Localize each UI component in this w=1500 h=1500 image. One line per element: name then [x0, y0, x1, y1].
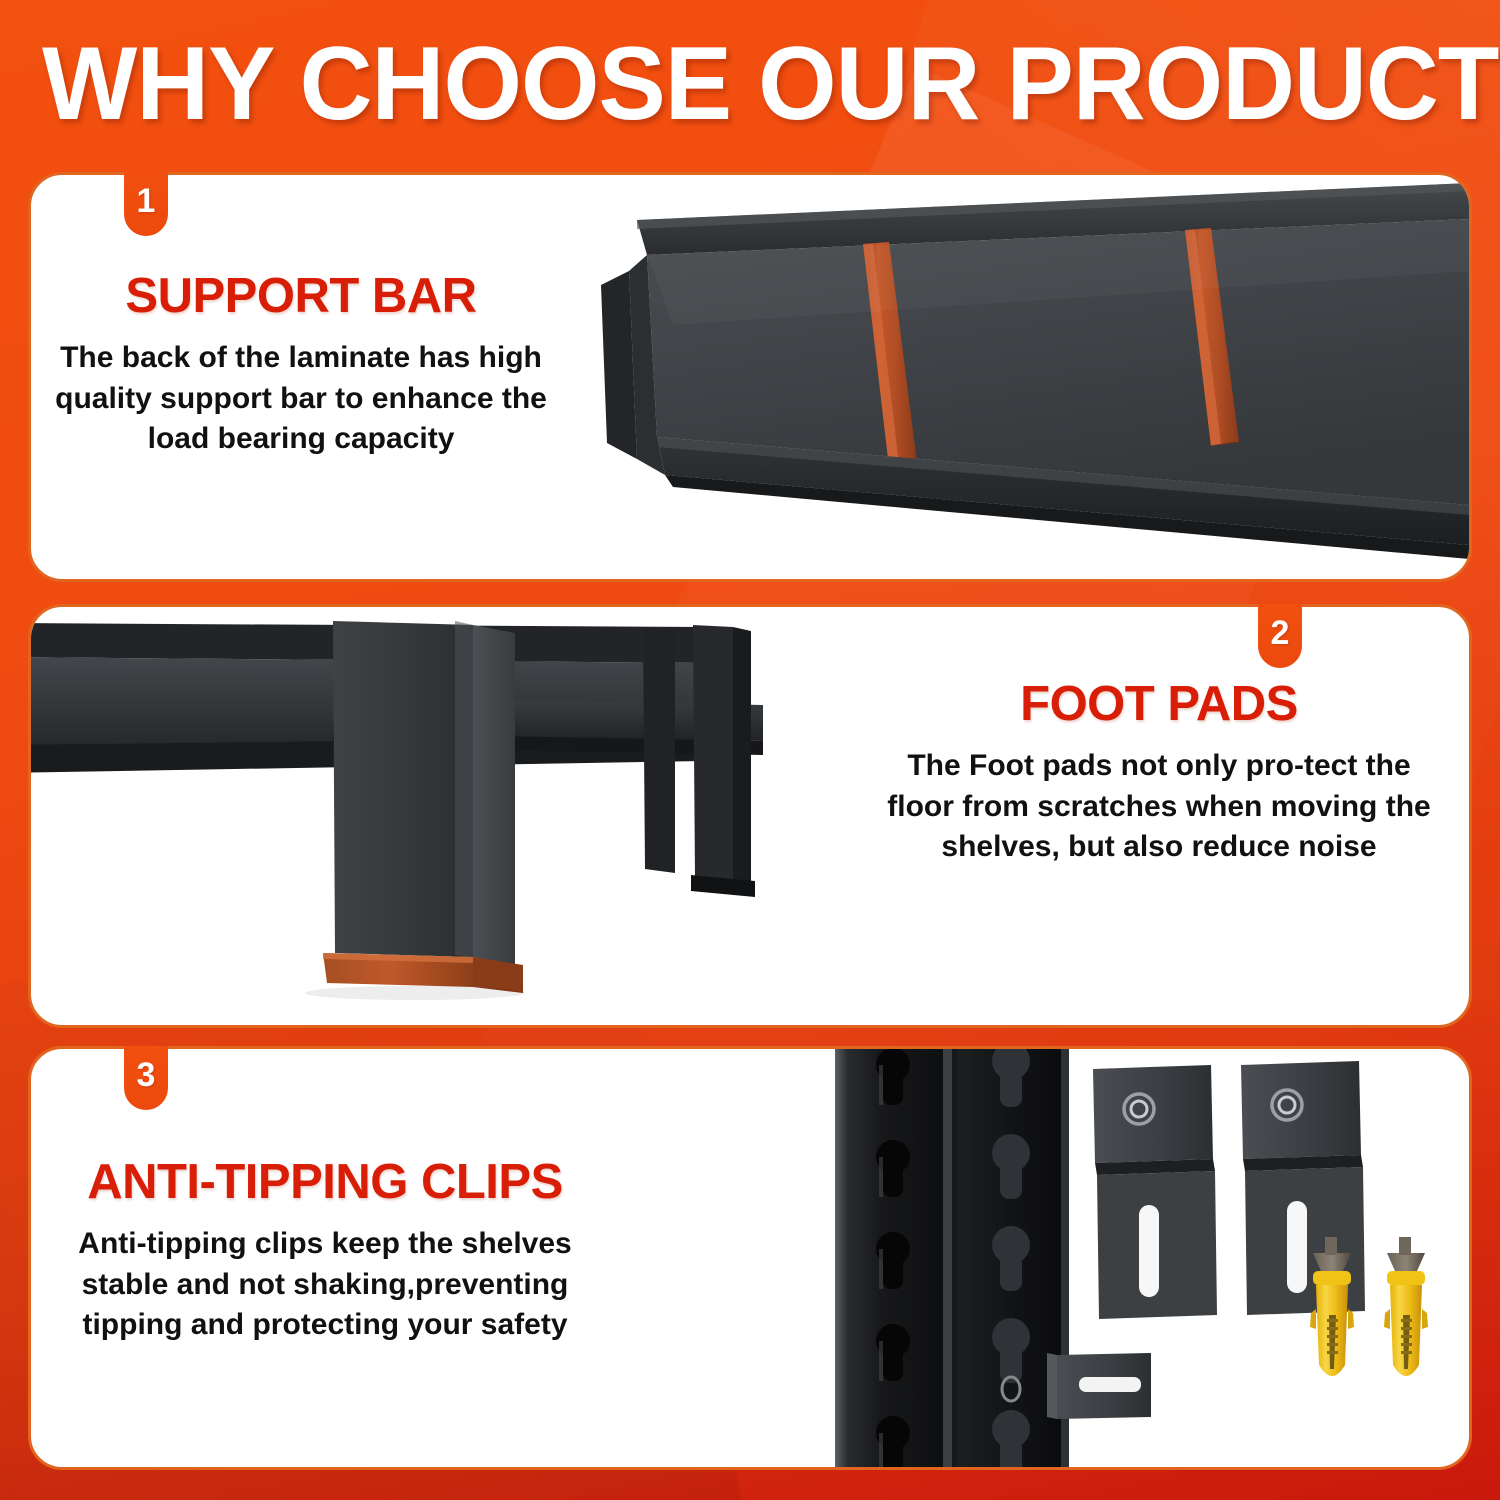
clip-a: [1093, 1065, 1217, 1319]
badge-number-1: 1: [137, 182, 156, 221]
anti-tipping-clips-illustration: [821, 1047, 1472, 1470]
feature-title-anti-tipping-clips: ANTI-TIPPING CLIPS: [49, 1157, 601, 1208]
feature-number-badge-2: 2: [1258, 604, 1302, 668]
feature-description-anti-tipping-clips: Anti-tipping clips keep the shelves stab…: [49, 1224, 601, 1345]
anti-tipping-clips-text-block: ANTI-TIPPING CLIPS Anti-tipping clips ke…: [49, 1157, 601, 1345]
page-title: WHY CHOOSE OUR PRODUCT: [42, 32, 1498, 136]
feature-card-support-bar: SUPPORT BAR The back of the laminate has…: [28, 172, 1472, 582]
foot-pads-illustration: [28, 605, 831, 1028]
feature-number-badge-3: 3: [124, 1046, 168, 1110]
feature-card-foot-pads: FOOT PADS The Foot pads not only pro-tec…: [28, 604, 1472, 1028]
shelf-legs-svg: [28, 605, 831, 1028]
feature-card-anti-tipping-clips: ANTI-TIPPING CLIPS Anti-tipping clips ke…: [28, 1046, 1472, 1470]
shelf-board-svg: [497, 175, 1469, 581]
foot-pads-text-block: FOOT PADS The Foot pads not only pro-tec…: [887, 679, 1431, 867]
feature-description-support-bar: The back of the laminate has high qualit…: [55, 338, 547, 459]
feature-title-foot-pads: FOOT PADS: [887, 679, 1431, 730]
feature-number-badge-1: 1: [124, 172, 168, 236]
support-bar-illustration: [497, 175, 1469, 581]
infographic-canvas: WHY CHOOSE OUR PRODUCT: [0, 0, 1500, 1500]
post-clips-anchors-svg: [821, 1047, 1472, 1470]
wall-anchor-b: [1384, 1237, 1428, 1376]
support-bar-text-block: SUPPORT BAR The back of the laminate has…: [55, 271, 547, 459]
badge-number-2: 2: [1271, 614, 1290, 653]
feature-description-foot-pads: The Foot pads not only pro-tect the floo…: [887, 746, 1431, 867]
badge-number-3: 3: [137, 1056, 156, 1095]
header: WHY CHOOSE OUR PRODUCT: [0, 0, 1500, 168]
feature-title-support-bar: SUPPORT BAR: [55, 271, 547, 322]
